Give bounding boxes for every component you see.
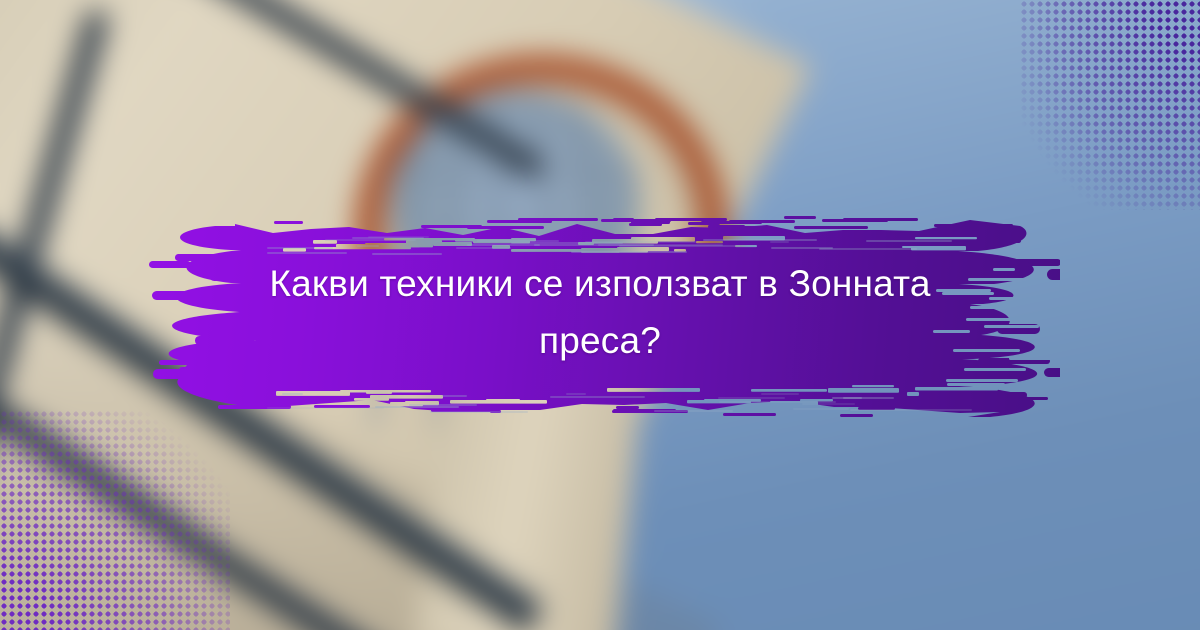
social-card: Какви техники се използват в Зонната пре…: [0, 0, 1200, 630]
headline-line-1: Какви техники се използват в Зонната: [190, 255, 1010, 312]
headline-line-2: преса?: [190, 312, 1010, 369]
headline-text: Какви техники се използват в Зонната пре…: [190, 255, 1010, 369]
